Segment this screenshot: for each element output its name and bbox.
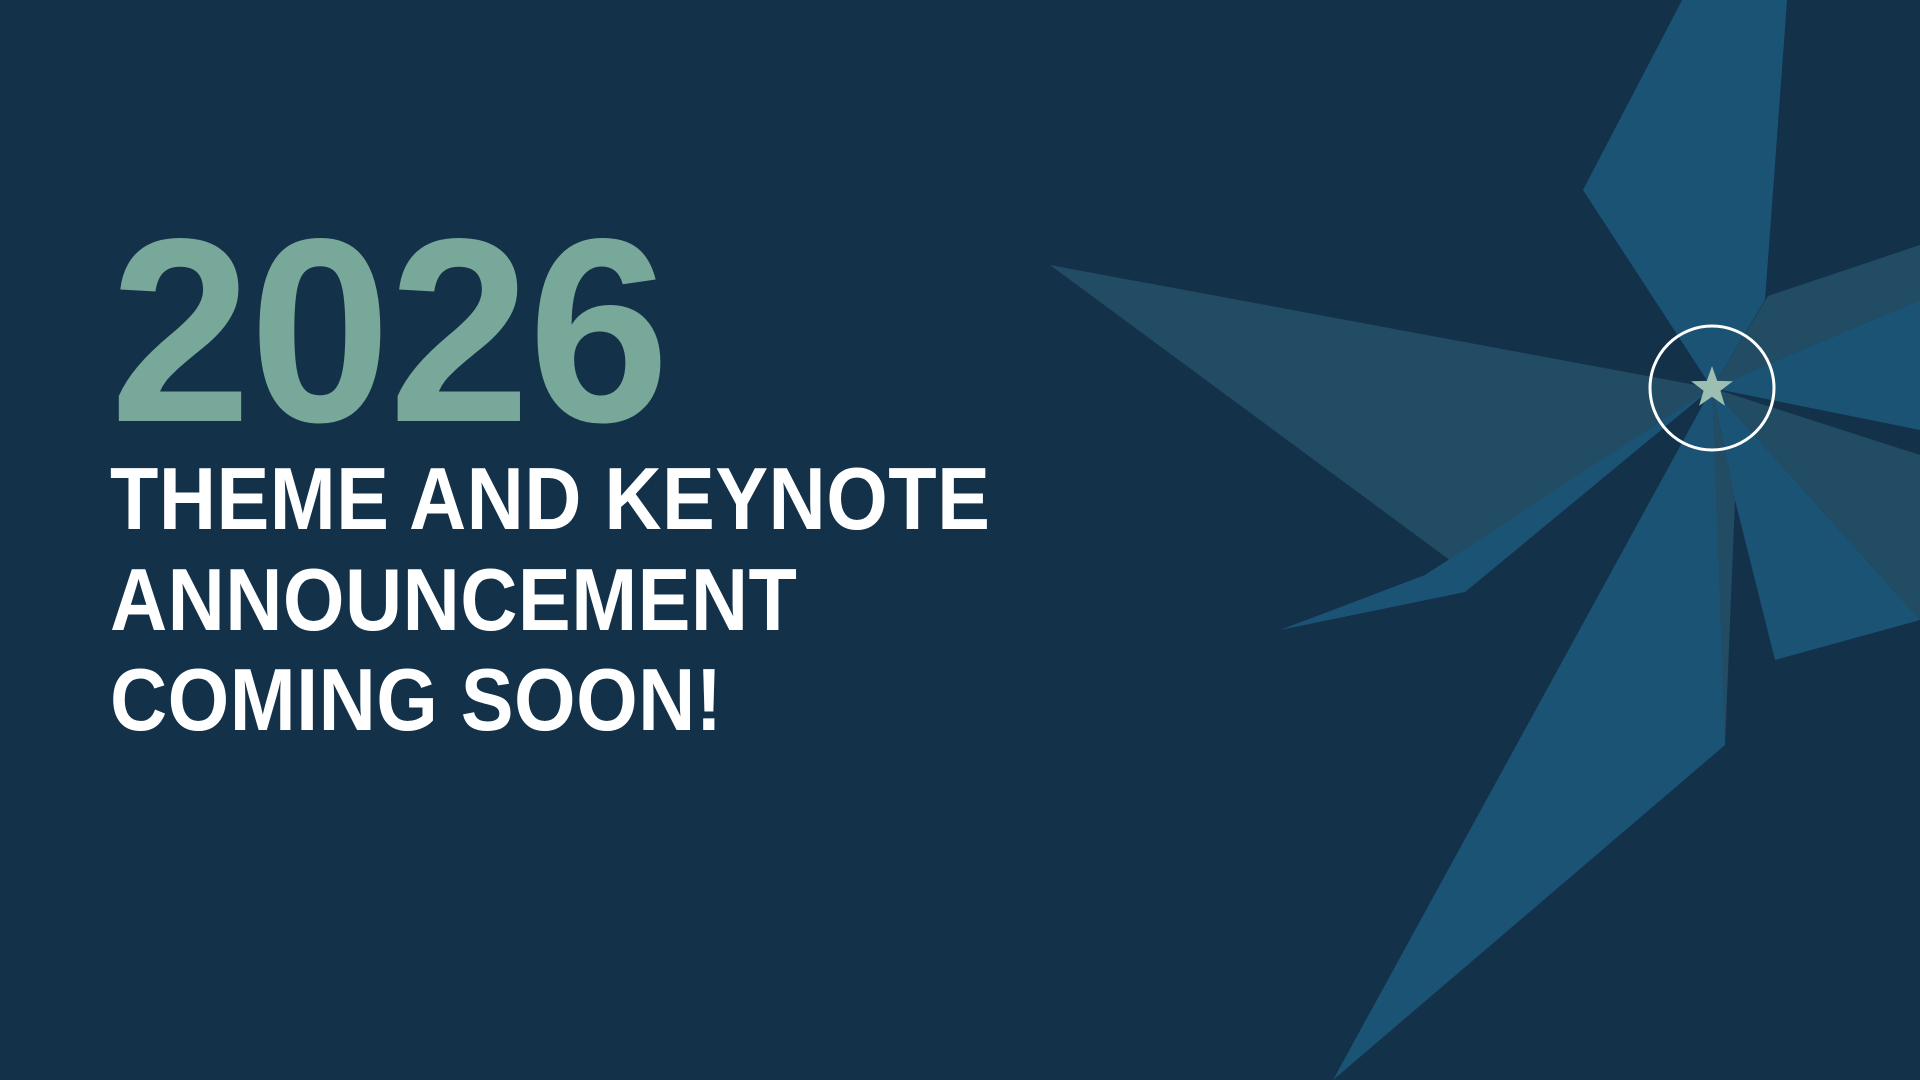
announcement-headline: THEME AND KEYNOTE ANNOUNCEMENT COMING SO… bbox=[110, 449, 1154, 750]
headline-line-2: ANNOUNCEMENT bbox=[110, 550, 1154, 650]
year-heading: 2026 bbox=[110, 218, 1235, 443]
headline-line-3: COMING SOON! bbox=[110, 650, 1154, 750]
headline-line-1: THEME AND KEYNOTE bbox=[110, 449, 1154, 549]
slide-canvas: 2026 THEME AND KEYNOTE ANNOUNCEMENT COMI… bbox=[0, 0, 1920, 1080]
announcement-text-block: 2026 THEME AND KEYNOTE ANNOUNCEMENT COMI… bbox=[110, 218, 1270, 750]
